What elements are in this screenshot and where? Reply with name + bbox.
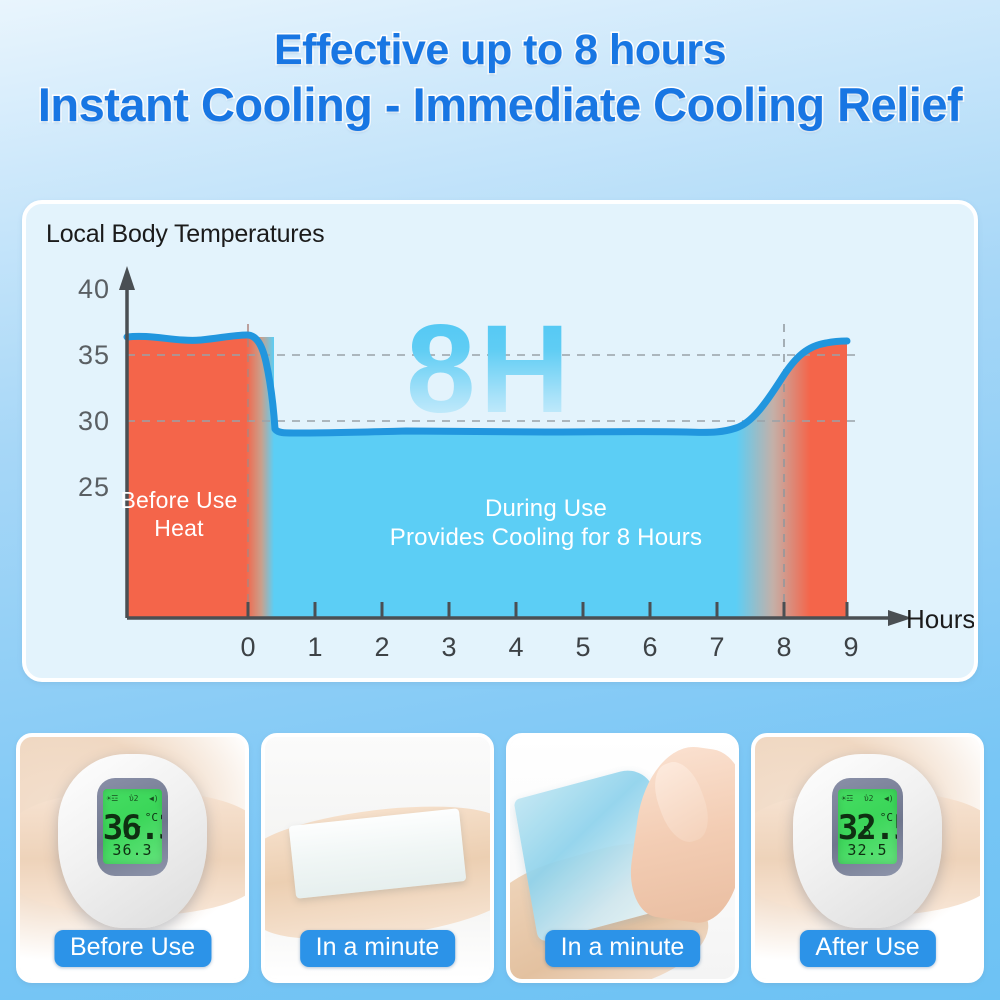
- region-label-before-use-line2: Heat: [104, 514, 254, 542]
- x-tick-label-6: 6: [635, 632, 665, 663]
- headline-block: Effective up to 8 hours Instant Cooling …: [0, 28, 1000, 129]
- lcd-secondary-readout: 17 36.3: [103, 823, 162, 859]
- photo-card-patch-applied[interactable]: In a minute: [261, 733, 494, 983]
- photo-caption-in-a-minute-1: In a minute: [300, 930, 456, 967]
- thermometer-lcd-screen-after: ☀☲ ὑ2 ◀) 32.5 °C 5 32.5: [838, 789, 897, 864]
- lcd-lock-icon-after: ὑ2: [864, 794, 874, 803]
- lcd-mode-icon-after: ☀☲: [841, 794, 853, 803]
- headline-line-1: Effective up to 8 hours: [0, 28, 1000, 74]
- lcd-mode-icon: ☀☲: [106, 794, 118, 803]
- photo-caption-before-use: Before Use: [54, 930, 211, 967]
- temperature-area-chart: [26, 204, 978, 682]
- region-after-use-fill: [810, 342, 847, 618]
- y-axis-arrow-icon: [119, 266, 135, 290]
- watermark-8h: 8H: [406, 307, 574, 432]
- x-tick-label-2: 2: [367, 632, 397, 663]
- photo-caption-after-use: After Use: [799, 930, 935, 967]
- x-tick-label-5: 5: [568, 632, 598, 663]
- x-tick-label-1: 1: [300, 632, 330, 663]
- x-tick-label-8: 8: [769, 632, 799, 663]
- photo-card-before-use[interactable]: ☀☲ ὑ2 ◀) 36.3 °C 17 36.3 Before Use: [16, 733, 249, 983]
- thermometer-lcd-screen: ☀☲ ὑ2 ◀) 36.3 °C 17 36.3: [103, 789, 162, 864]
- photo-caption-in-a-minute-2: In a minute: [545, 930, 701, 967]
- y-tick-label-30: 30: [64, 406, 110, 437]
- photo-card-patch-peeling[interactable]: In a minute: [506, 733, 739, 983]
- y-tick-label-35: 35: [64, 340, 110, 371]
- x-tick-label-9: 9: [836, 632, 866, 663]
- region-label-during-use-line1: During Use: [286, 494, 806, 523]
- y-tick-label-40: 40: [64, 274, 110, 305]
- photo-card-after-use[interactable]: ☀☲ ὑ2 ◀) 32.5 °C 5 32.5 After Use: [751, 733, 984, 983]
- region-label-before-use: Before Use Heat: [104, 486, 254, 542]
- x-tick-label-0: 0: [233, 632, 263, 663]
- x-tick-label-7: 7: [702, 632, 732, 663]
- headline-line-2: Instant Cooling - Immediate Cooling Reli…: [0, 80, 1000, 130]
- lcd-sound-icon: ◀): [149, 794, 159, 803]
- region-label-during-use: During Use Provides Cooling for 8 Hours: [286, 494, 806, 553]
- region-before-use-fill: [127, 336, 246, 618]
- x-tick-label-4: 4: [501, 632, 531, 663]
- x-tick-label-3: 3: [434, 632, 464, 663]
- chart-panel: Local Body Temperatures: [22, 200, 978, 682]
- region-label-before-use-line1: Before Use: [104, 486, 254, 514]
- x-axis-title: Hours: [906, 604, 975, 635]
- region-label-during-use-line2: Provides Cooling for 8 Hours: [286, 523, 806, 552]
- photo-card-strip: ☀☲ ὑ2 ◀) 36.3 °C 17 36.3 Before Use In a…: [16, 733, 984, 983]
- lcd-sound-icon-after: ◀): [884, 794, 894, 803]
- lcd-lock-icon: ὑ2: [129, 794, 139, 803]
- lcd-secondary-readout-after: 5 32.5: [838, 823, 897, 859]
